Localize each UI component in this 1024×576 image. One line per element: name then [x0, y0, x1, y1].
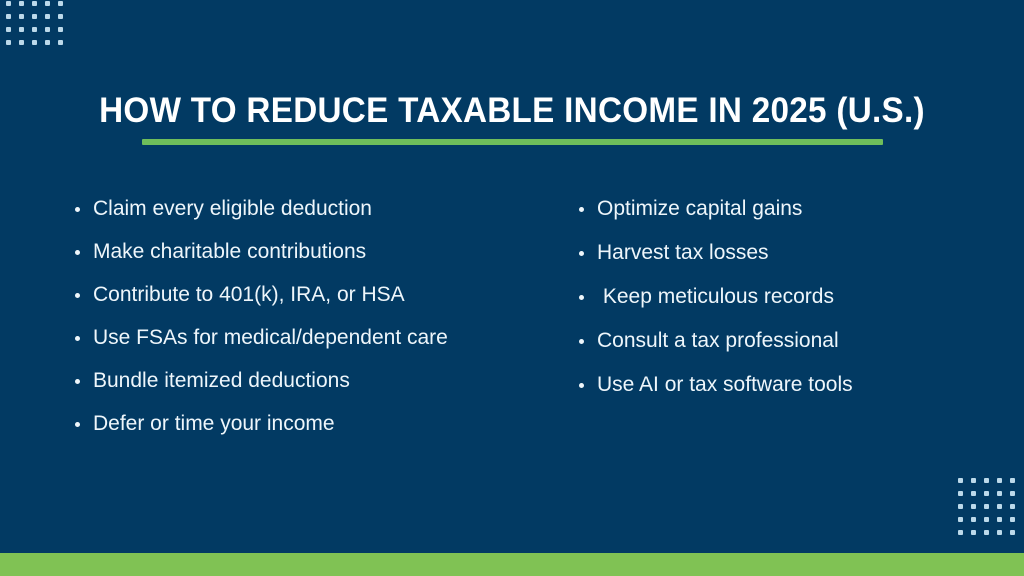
decorative-dot — [32, 27, 37, 32]
decorative-dot — [997, 491, 1002, 496]
decorative-dot — [45, 1, 50, 6]
list-item: Keep meticulous records — [576, 284, 1024, 310]
decorative-dot — [6, 1, 11, 6]
decorative-dot — [997, 517, 1002, 522]
decorative-dot — [984, 491, 989, 496]
decorative-dot — [971, 478, 976, 483]
bottom-accent-band — [0, 553, 1024, 576]
decorative-dot — [971, 517, 976, 522]
list-item: Claim every eligible deduction — [72, 196, 545, 222]
decorative-dot — [984, 504, 989, 509]
decorative-dot — [32, 40, 37, 45]
decorative-dot — [58, 1, 63, 6]
decorative-dot — [6, 27, 11, 32]
decorative-dot — [6, 40, 11, 45]
decorative-dot — [19, 27, 24, 32]
decorative-dot — [32, 1, 37, 6]
decorative-dot — [958, 478, 963, 483]
decorative-dot — [19, 14, 24, 19]
list-item: Optimize capital gains — [576, 196, 1024, 222]
list-item: Defer or time your income — [72, 411, 545, 437]
decorative-dot — [971, 504, 976, 509]
decorative-dot — [58, 27, 63, 32]
decorative-dot — [32, 14, 37, 19]
list-item: Contribute to 401(k), IRA, or HSA — [72, 282, 545, 308]
page-title: How to Reduce Taxable Income in 2025 (U.… — [26, 88, 999, 134]
decorative-dot — [6, 14, 11, 19]
dot-grid-top-left-decoration — [6, 0, 63, 45]
left-bullet-list: Claim every eligible deductionMake chari… — [72, 196, 545, 437]
right-column: Optimize capital gainsHarvest tax losses… — [545, 196, 1024, 416]
decorative-dot — [997, 504, 1002, 509]
decorative-dot — [1010, 478, 1015, 483]
decorative-dot — [984, 530, 989, 535]
decorative-dot — [958, 517, 963, 522]
dot-grid-bottom-right-decoration — [958, 478, 1015, 535]
left-column: Claim every eligible deductionMake chari… — [0, 196, 545, 454]
decorative-dot — [984, 478, 989, 483]
decorative-dot — [997, 478, 1002, 483]
decorative-dot — [58, 14, 63, 19]
decorative-dot — [45, 27, 50, 32]
list-item: Use FSAs for medical/dependent care — [72, 325, 545, 351]
decorative-dot — [1010, 491, 1015, 496]
right-bullet-list: Optimize capital gainsHarvest tax losses… — [576, 196, 1024, 398]
decorative-dot — [958, 530, 963, 535]
bullet-columns: Claim every eligible deductionMake chari… — [0, 196, 1024, 454]
decorative-dot — [958, 504, 963, 509]
decorative-dot — [971, 491, 976, 496]
decorative-dot — [997, 530, 1002, 535]
title-underline-accent — [142, 139, 883, 145]
decorative-dot — [19, 1, 24, 6]
list-item: Bundle itemized deductions — [72, 368, 545, 394]
decorative-dot — [58, 40, 63, 45]
decorative-dot — [984, 517, 989, 522]
decorative-dot — [45, 14, 50, 19]
decorative-dot — [1010, 504, 1015, 509]
decorative-dot — [19, 40, 24, 45]
decorative-dot — [958, 491, 963, 496]
decorative-dot — [1010, 517, 1015, 522]
list-item: Make charitable contributions — [72, 239, 545, 265]
slide-canvas: How to Reduce Taxable Income in 2025 (U.… — [0, 0, 1024, 576]
decorative-dot — [1010, 530, 1015, 535]
title-container: How to Reduce Taxable Income in 2025 (U.… — [0, 88, 1024, 134]
list-item: Use AI or tax software tools — [576, 372, 1024, 398]
decorative-dot — [971, 530, 976, 535]
decorative-dot — [45, 40, 50, 45]
list-item: Harvest tax losses — [576, 240, 1024, 266]
list-item: Consult a tax professional — [576, 328, 1024, 354]
